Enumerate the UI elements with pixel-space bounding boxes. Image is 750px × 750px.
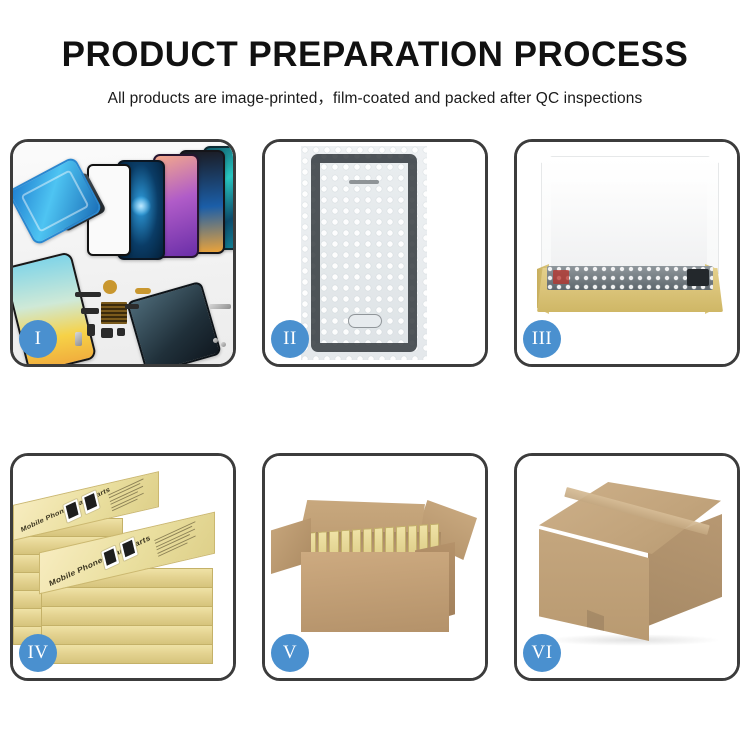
box-thumbnails-back: [62, 489, 101, 524]
step-badge-4: IV: [19, 634, 57, 672]
step-panel-5[interactable]: V: [262, 453, 488, 681]
step-badge-5: V: [271, 634, 309, 672]
wrapped-screen: [547, 266, 713, 290]
step-panel-4[interactable]: Mobile Phone Spare Parts Mobile Phone Sp…: [10, 453, 236, 681]
page-subtitle: All products are image-printed，film-coat…: [0, 75, 750, 108]
step-panel-3[interactable]: III: [514, 139, 740, 367]
home-button: [348, 314, 382, 328]
box-thumbnails-front: [100, 536, 139, 571]
page-title: PRODUCT PREPARATION PROCESS: [0, 0, 750, 75]
earpiece-slot: [349, 180, 379, 184]
process-steps-grid: I II III: [10, 139, 740, 739]
step-panel-6[interactable]: VI: [514, 453, 740, 681]
box-spec-lines-front: [154, 519, 203, 558]
step-panel-1[interactable]: I: [10, 139, 236, 367]
step-badge-3: III: [523, 320, 561, 358]
screen-glass: [311, 154, 417, 352]
foam-insert: [551, 182, 707, 268]
step-badge-2: II: [271, 320, 309, 358]
step-badge-6: VI: [523, 634, 561, 672]
step-panel-2[interactable]: II: [262, 139, 488, 367]
carton-front-face: [301, 552, 449, 632]
page-header: PRODUCT PREPARATION PROCESS All products…: [0, 0, 750, 108]
box-spec-lines-back: [108, 477, 152, 514]
step-badge-1: I: [19, 320, 57, 358]
